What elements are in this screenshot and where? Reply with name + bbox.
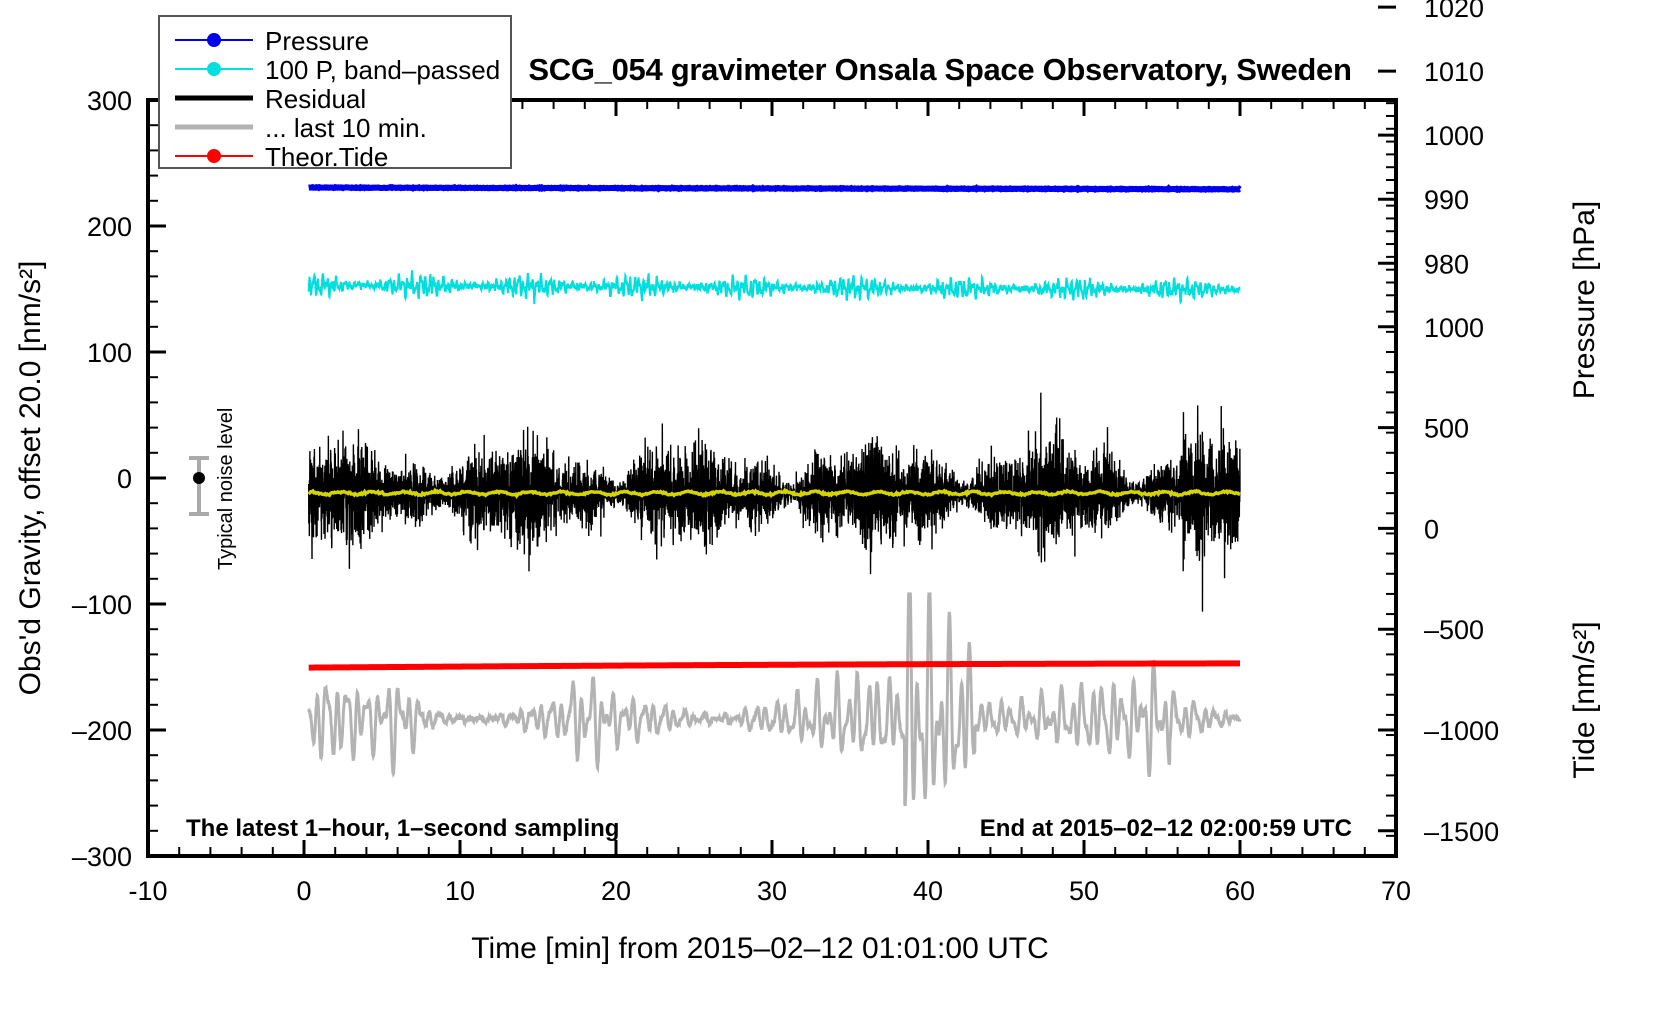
y-tick-label: –100 (72, 590, 132, 620)
x-tick-label: 70 (1381, 876, 1411, 906)
x-tick-label: 60 (1225, 876, 1255, 906)
legend-label: Residual (265, 84, 366, 114)
tide-axis-title: Tide [nm/s²] (1568, 621, 1601, 778)
x-axis-title: Time [min] from 2015–02–12 01:01:00 UTC (471, 932, 1049, 965)
x-tick-label: 50 (1069, 876, 1099, 906)
legend[interactable]: Pressure100 P, band–passedResidual... la… (159, 16, 511, 172)
x-tick-label: 10 (445, 876, 475, 906)
legend-marker-icon (207, 149, 221, 163)
annotation-bottom-left: The latest 1–hour, 1–second sampling (186, 815, 619, 842)
legend-label: 100 P, band–passed (265, 55, 500, 85)
legend-label: Pressure (265, 26, 369, 56)
pressure-tick-label: 1010 (1424, 57, 1484, 87)
tide-tick-label: –1500 (1424, 817, 1499, 847)
tide-tick-label: –1000 (1424, 716, 1499, 746)
pressure-tick-label: 1020 (1424, 0, 1484, 23)
legend-label: Theor.Tide (265, 142, 388, 172)
legend-marker-icon (207, 33, 221, 47)
legend-marker-icon (207, 62, 221, 76)
y-tick-label: 200 (87, 212, 132, 242)
y-tick-label: 100 (87, 338, 132, 368)
chart-canvas: -10010203040506070 3002001000–100–200–30… (0, 0, 1660, 1020)
pressure-axis-title: Pressure [hPa] (1568, 201, 1601, 399)
gravimeter-timeseries-chart: -10010203040506070 3002001000–100–200–30… (0, 0, 1660, 1020)
pressure-tick-label: 990 (1424, 185, 1469, 215)
y-tick-label: 300 (87, 86, 132, 116)
x-tick-label: 20 (601, 876, 631, 906)
y-tick-label: –200 (72, 716, 132, 746)
legend-label: ... last 10 min. (265, 113, 427, 143)
tide-tick-label: 500 (1424, 414, 1469, 444)
x-tick-label: -10 (128, 876, 167, 906)
pressure-tick-label: 1000 (1424, 121, 1484, 151)
x-tick-label: 0 (296, 876, 311, 906)
tide-tick-label: –500 (1424, 615, 1484, 645)
pressure-tick-label: 980 (1424, 249, 1469, 279)
tide-tick-label: 1000 (1424, 313, 1484, 343)
typical-noise-level-label: Typical noise level (215, 408, 237, 570)
x-tick-label: 40 (913, 876, 943, 906)
tide-tick-label: 0 (1424, 514, 1439, 544)
y-axis-title: Obs'd Gravity, offset 20.0 [nm/s²] (14, 261, 47, 696)
trace-pressure (309, 187, 1240, 189)
y-tick-label: –300 (72, 842, 132, 872)
annotation-bottom-right: End at 2015–02–12 02:00:59 UTC (980, 815, 1352, 842)
x-tick-label: 30 (757, 876, 787, 906)
chart-title: SCG_054 gravimeter Onsala Space Observat… (528, 52, 1351, 87)
y-tick-label: 0 (117, 464, 132, 494)
